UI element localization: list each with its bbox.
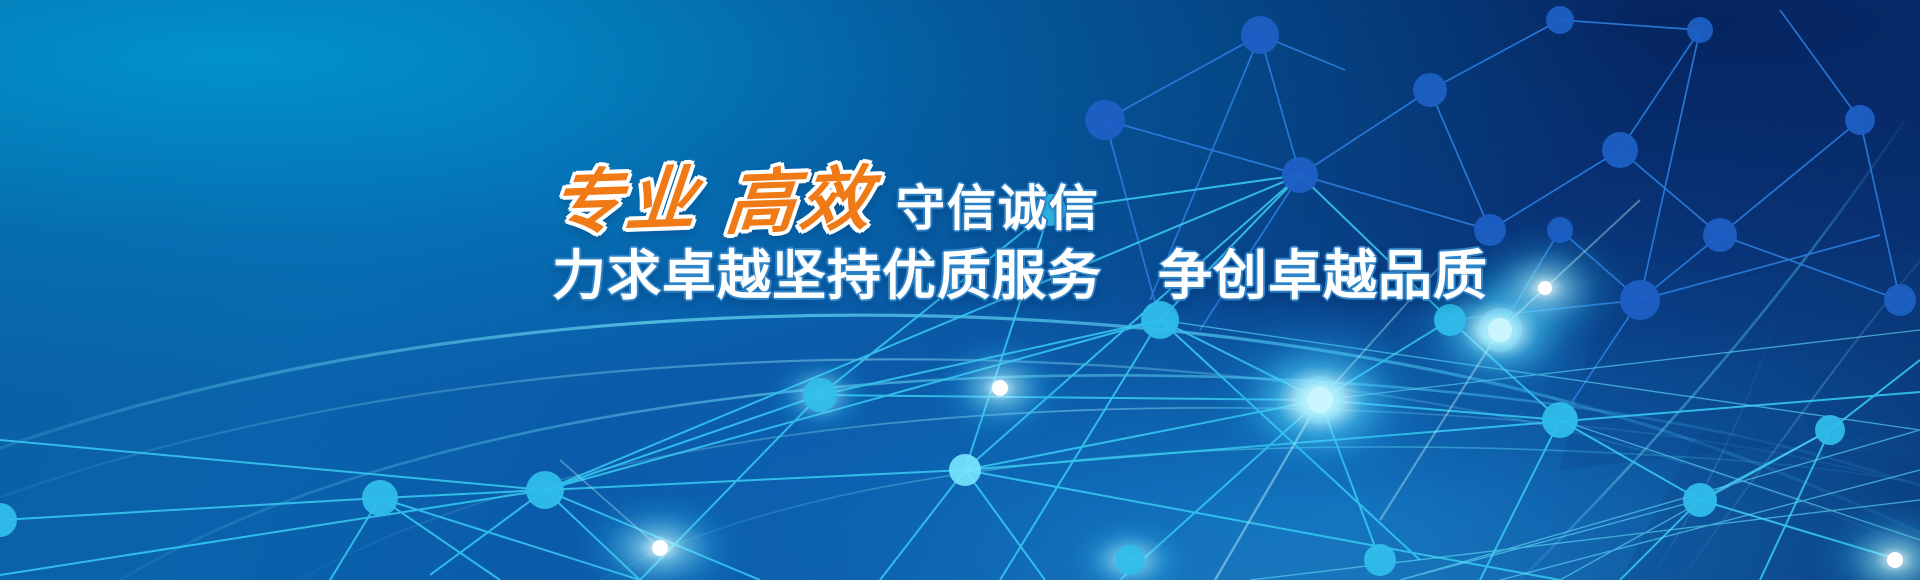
hero-banner: 专业 高效 守信诚信 力求卓越坚持优质服务 争创卓越品质: [0, 0, 1920, 580]
network-nodes-layer: [0, 0, 1920, 580]
